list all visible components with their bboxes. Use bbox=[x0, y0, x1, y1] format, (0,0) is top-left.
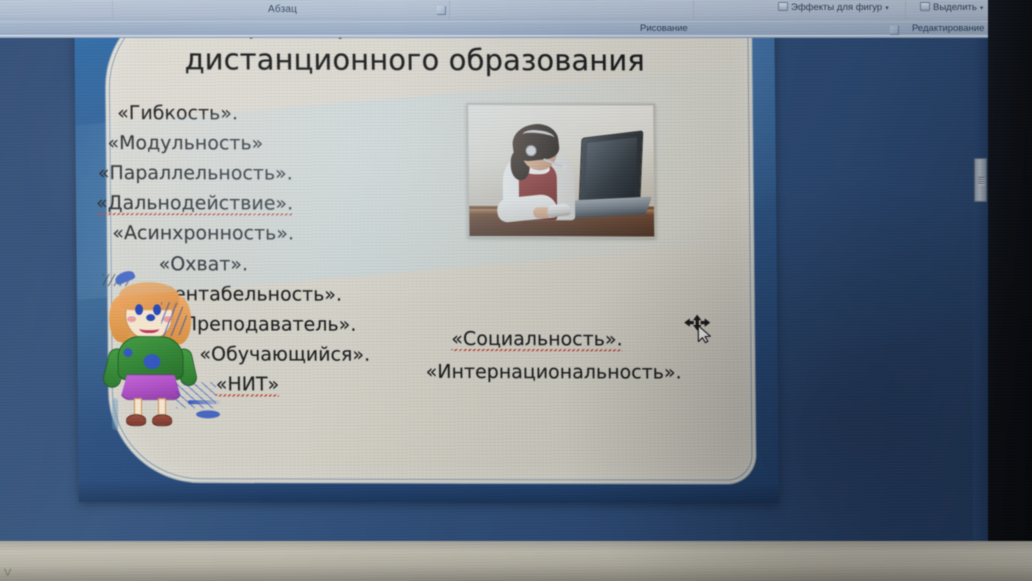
slide-background[interactable]: Характерные особенности дистанционного о… bbox=[74, 0, 779, 504]
bullet-text: «Охват». bbox=[159, 253, 249, 275]
move-cursor bbox=[683, 314, 717, 344]
chevron-down-icon: ▾ bbox=[980, 5, 984, 12]
clipart-skirt bbox=[120, 374, 182, 400]
bullet-text: «Гибкость». bbox=[117, 102, 238, 124]
bullet-text: «Обучающийся». bbox=[199, 343, 370, 365]
clipart-sweater-dot-small bbox=[123, 348, 132, 357]
clipart-cheek-right bbox=[163, 316, 172, 322]
taskbar-glyph: V bbox=[4, 567, 12, 579]
clipart-cartoon-girl[interactable] bbox=[99, 274, 216, 426]
select-label: Выделить bbox=[933, 2, 977, 13]
clipart-eye-left bbox=[135, 304, 143, 315]
doodle-blob bbox=[196, 410, 220, 418]
clipart-mouth bbox=[139, 324, 159, 333]
clipart-nose bbox=[146, 314, 155, 321]
scrollbar-grip-icon bbox=[978, 177, 985, 185]
right-bullet-list[interactable]: «Социальность». «Интернациональность». bbox=[425, 323, 726, 389]
paragraph-dialog-launcher-icon[interactable] bbox=[437, 6, 446, 15]
bullet-text: «Параллельность». bbox=[98, 162, 293, 185]
monitor-bezel-right bbox=[988, 0, 1032, 545]
doodle-hatching bbox=[176, 382, 216, 408]
drawing-dialog-launcher-icon[interactable] bbox=[890, 26, 899, 35]
list-item: «Асинхронность». bbox=[94, 218, 464, 249]
clipart-eye-right bbox=[153, 304, 161, 315]
slide-title-line-2: дистанционного образования bbox=[134, 41, 694, 80]
ribbon-tab-row: Рисование Редактирование bbox=[0, 21, 995, 36]
computer-mouse bbox=[547, 203, 572, 217]
shape-effects-command[interactable]: Эффекты для фигур▾ bbox=[778, 2, 889, 13]
vertical-scrollbar[interactable] bbox=[973, 38, 988, 545]
doodle-streak bbox=[188, 400, 222, 404]
tab-drawing[interactable]: Рисование bbox=[640, 23, 688, 34]
scrollbar-thumb[interactable] bbox=[974, 158, 987, 202]
select-icon bbox=[920, 2, 930, 11]
list-item: «Интернациональность». bbox=[426, 356, 726, 389]
tab-editing[interactable]: Редактирование bbox=[912, 23, 984, 34]
group-divider bbox=[112, 1, 113, 20]
shape-effects-label: Эффекты для фигур bbox=[791, 2, 882, 13]
slide-canvas[interactable]: Характерные особенности дистанционного о… bbox=[74, 0, 779, 504]
bullet-text: «Дальнодействие». bbox=[96, 192, 293, 216]
bullet-text: «НИТ» bbox=[216, 373, 280, 396]
laptop-screen bbox=[585, 137, 638, 207]
list-item: «Гибкость». bbox=[93, 98, 463, 129]
doodle-line bbox=[112, 398, 118, 430]
shape-effects-icon bbox=[778, 2, 788, 11]
chevron-down-icon: ▾ bbox=[885, 5, 889, 12]
clipart-cheek-left bbox=[127, 316, 136, 322]
move-cursor-icon bbox=[683, 314, 717, 344]
list-item: «Модульность» bbox=[93, 128, 463, 159]
ribbon-group-label-paragraph: Абзац bbox=[268, 4, 297, 15]
select-command[interactable]: Выделить▾ bbox=[920, 2, 983, 13]
bullet-text: «Интернациональность». bbox=[426, 361, 682, 384]
photo-girl-with-headset-at-laptop[interactable] bbox=[466, 103, 656, 238]
ribbon-group-row: Абзац Эффекты для фигур▾ Выделить▾ bbox=[0, 0, 995, 21]
bullet-text: «Социальность». bbox=[451, 328, 622, 351]
list-item: «Дальнодействие». bbox=[94, 188, 464, 219]
clipart-shoe-left bbox=[126, 414, 146, 426]
list-item: «Параллельность». bbox=[94, 158, 464, 189]
bullet-text: «Модульность» bbox=[107, 132, 263, 154]
clipart-shoe-right bbox=[152, 414, 172, 426]
bullet-text: «Асинхронность». bbox=[112, 223, 294, 245]
group-divider bbox=[449, 1, 450, 20]
ribbon-bottom-edge bbox=[0, 35, 995, 38]
clipart-sweater-dot bbox=[143, 354, 160, 369]
powerpoint-ribbon[interactable]: Абзац Эффекты для фигур▾ Выделить▾ Рисов… bbox=[0, 0, 995, 36]
group-divider bbox=[905, 1, 906, 20]
group-divider bbox=[693, 1, 694, 20]
monitor-photo: Абзац Эффекты для фигур▾ Выделить▾ Рисов… bbox=[0, 0, 1032, 581]
list-item: «Социальность». bbox=[425, 323, 725, 356]
headset-earcup bbox=[526, 145, 537, 156]
taskbar[interactable] bbox=[0, 541, 1032, 581]
